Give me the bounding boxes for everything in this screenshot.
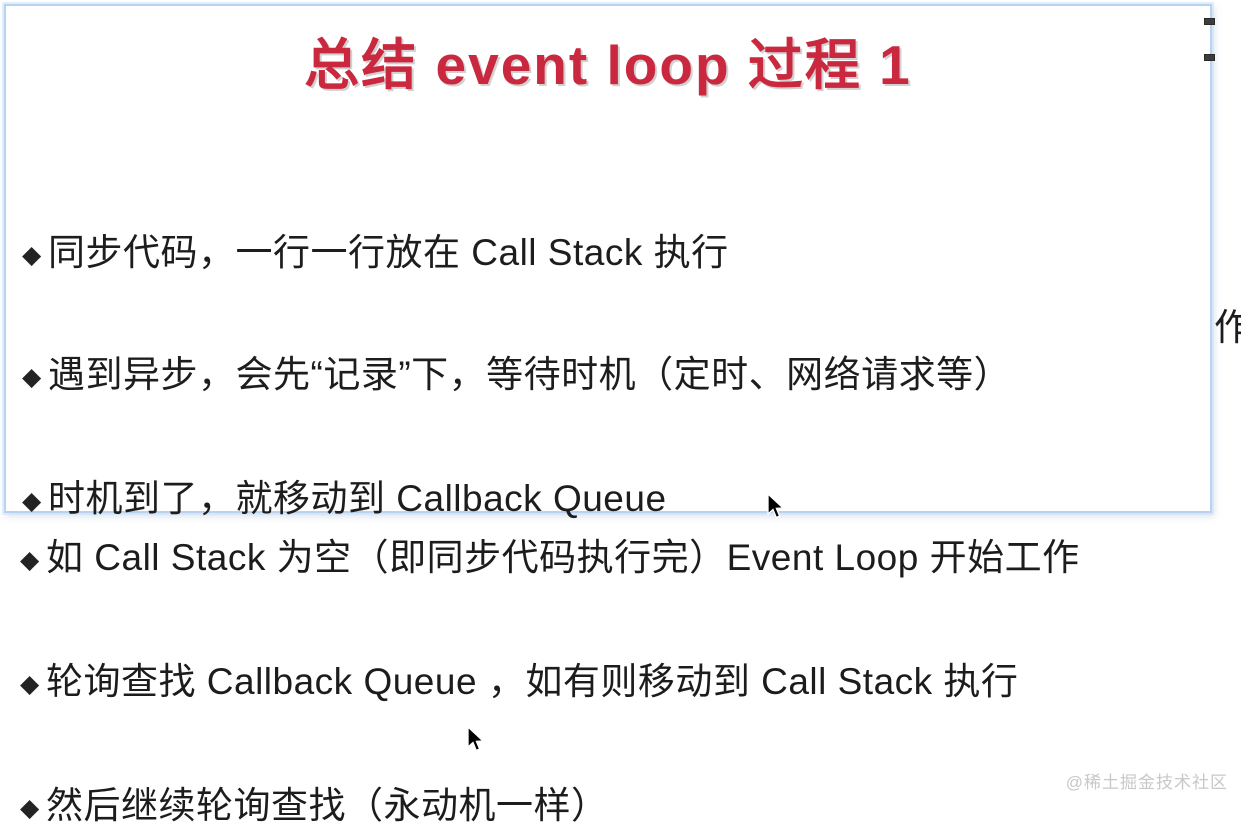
bullet-diamond-icon: ◆: [20, 796, 46, 821]
list-item-label: 然后继续轮询查找（永动机一样）: [46, 775, 609, 829]
list-item[interactable]: ◆ 然后继续轮询查找（永动机一样）: [20, 775, 609, 829]
bullet-diamond-icon: ◆: [22, 243, 48, 268]
resize-handle-right-upper[interactable]: [1204, 18, 1215, 25]
bullet-diamond-icon: ◆: [22, 489, 48, 514]
page-title: 总结 event loop 过程 1: [6, 20, 1210, 100]
list-item[interactable]: ◆ 轮询查找 Callback Queue ，如有则移动到 Call Stack…: [20, 651, 1018, 705]
bullet-diamond-icon: ◆: [20, 672, 46, 697]
bullet-diamond-icon: ◆: [22, 365, 48, 390]
bullet-diamond-icon: ◆: [20, 548, 46, 573]
list-item[interactable]: ◆ 如 Call Stack 为空（即同步代码执行完）Event Loop 开始…: [20, 527, 1080, 581]
background-text-fragment: 作: [1214, 297, 1241, 351]
list-item[interactable]: ◆ 遇到异步，会先“记录”下，等待时机（定时、网络请求等）: [22, 344, 1011, 398]
list-item-label: 遇到异步，会先“记录”下，等待时机（定时、网络请求等）: [48, 344, 1011, 398]
resize-handle-right-lower[interactable]: [1204, 54, 1215, 61]
list-item[interactable]: ◆ 同步代码，一行一行放在 Call Stack 执行: [22, 222, 729, 276]
list-item-label: 轮询查找 Callback Queue ，如有则移动到 Call Stack 执…: [46, 651, 1018, 705]
selected-text-box[interactable]: 总结 event loop 过程 1 ◆ 同步代码，一行一行放在 Call St…: [4, 4, 1212, 513]
list-item[interactable]: ◆ 时机到了，就移动到 Callback Queue: [22, 468, 667, 522]
list-item-label: 时机到了，就移动到 Callback Queue: [48, 468, 667, 522]
list-item-label: 如 Call Stack 为空（即同步代码执行完）Event Loop 开始工作: [46, 527, 1080, 581]
list-item-label: 同步代码，一行一行放在 Call Stack 执行: [48, 222, 729, 276]
watermark: @稀土掘金技术社区: [1066, 768, 1228, 793]
